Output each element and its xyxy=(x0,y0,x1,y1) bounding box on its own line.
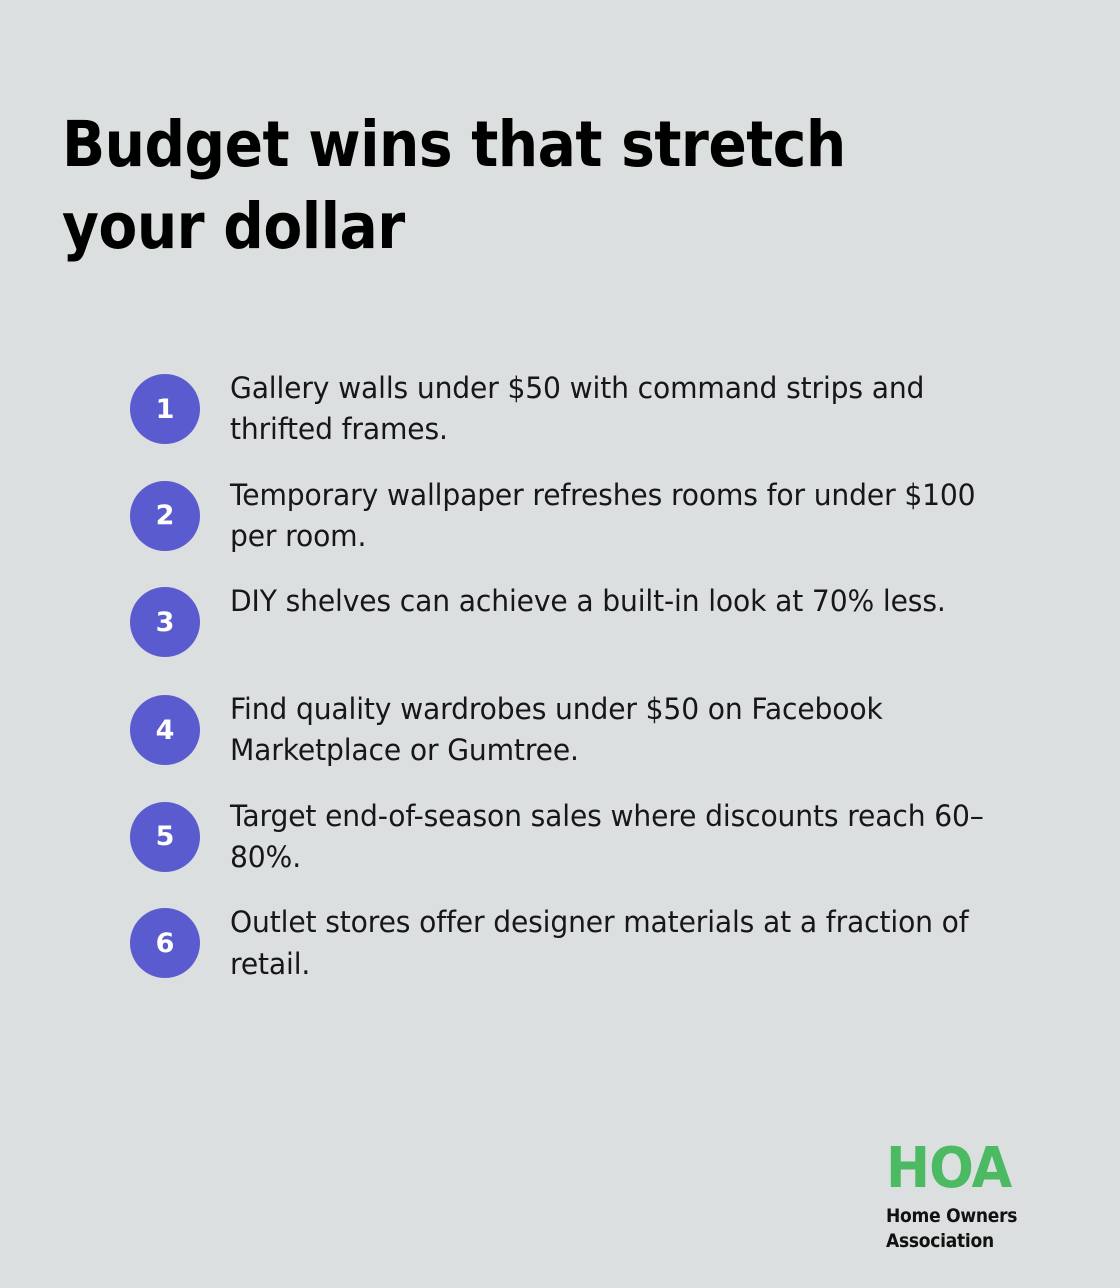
tip-number-badge: 2 xyxy=(130,481,200,551)
tip-number-badge: 4 xyxy=(130,695,200,765)
list-item: 6 Outlet stores offer designer materials… xyxy=(130,900,1060,985)
hoa-logo: HOA Home Owners Association xyxy=(886,1142,1056,1253)
list-item: 2 Temporary wallpaper refreshes rooms fo… xyxy=(130,473,1060,558)
tip-text: Outlet stores offer designer materials a… xyxy=(230,900,1023,985)
list-item: 3 DIY shelves can achieve a built-in loo… xyxy=(130,579,1060,657)
tip-number-badge: 5 xyxy=(130,802,200,872)
tip-text: Find quality wardrobes under $50 on Face… xyxy=(230,687,1023,772)
logo-tagline-line-1: Home Owners xyxy=(886,1204,1039,1228)
page-title: Budget wins that stretch your dollar xyxy=(62,104,944,268)
title-block: Budget wins that stretch your dollar xyxy=(62,104,1042,268)
tip-number-badge: 3 xyxy=(130,587,200,657)
list-item: 5 Target end-of-season sales where disco… xyxy=(130,794,1060,879)
tip-number-badge: 1 xyxy=(130,374,200,444)
tip-text: DIY shelves can achieve a built-in look … xyxy=(230,579,1023,622)
tip-text: Gallery walls under $50 with command str… xyxy=(230,366,1023,451)
logo-tagline-line-2: Association xyxy=(886,1229,1039,1253)
tips-list: 1 Gallery walls under $50 with command s… xyxy=(130,366,1060,985)
infographic-poster: Budget wins that stretch your dollar 1 G… xyxy=(0,0,1120,1288)
tip-text: Temporary wallpaper refreshes rooms for … xyxy=(230,473,1023,558)
logo-wordmark: HOA xyxy=(886,1142,1046,1195)
tip-number-badge: 6 xyxy=(130,908,200,978)
tip-text: Target end-of-season sales where discoun… xyxy=(230,794,1023,879)
list-item: 4 Find quality wardrobes under $50 on Fa… xyxy=(130,687,1060,772)
list-item: 1 Gallery walls under $50 with command s… xyxy=(130,366,1060,451)
